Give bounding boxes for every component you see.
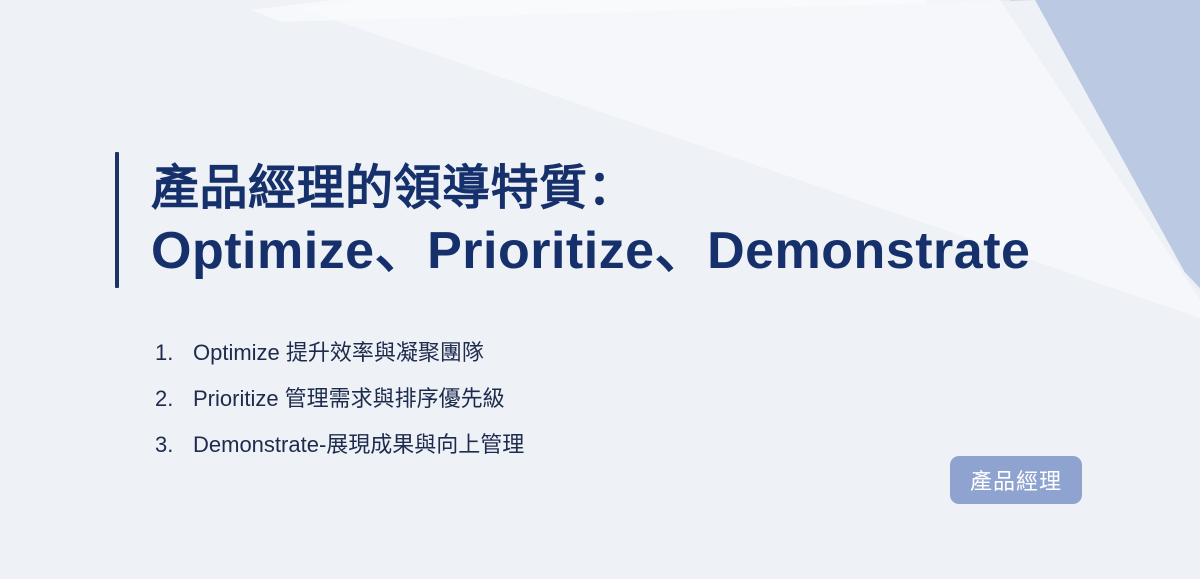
list-item-label: Prioritize 管理需求與排序優先級 <box>193 386 505 412</box>
slide-canvas: 產品經理的領導特質： Optimize、Prioritize、Demonstra… <box>0 0 1200 579</box>
list-item-label: Optimize 提升效率與凝聚團隊 <box>193 340 484 366</box>
title-block: 產品經理的領導特質： Optimize、Prioritize、Demonstra… <box>115 152 1030 288</box>
page-title: 產品經理的領導特質： Optimize、Prioritize、Demonstra… <box>151 152 1030 288</box>
list-item-number: 2. <box>155 386 193 412</box>
list-item: 1. Optimize 提升效率與凝聚團隊 <box>155 340 524 366</box>
title-accent-bar <box>115 152 119 288</box>
list-item-number: 3. <box>155 432 193 458</box>
key-points-list: 1. Optimize 提升效率與凝聚團隊 2. Prioritize 管理需求… <box>155 340 524 478</box>
list-item-number: 1. <box>155 340 193 366</box>
list-item: 2. Prioritize 管理需求與排序優先級 <box>155 386 524 412</box>
title-line-primary: 產品經理的領導特質： <box>151 157 1030 220</box>
category-badge: 產品經理 <box>950 456 1082 504</box>
list-item-label: Demonstrate-展現成果與向上管理 <box>193 432 524 458</box>
category-badge-label: 產品經理 <box>970 464 1062 496</box>
list-item: 3. Demonstrate-展現成果與向上管理 <box>155 432 524 458</box>
title-line-secondary: Optimize、Prioritize、Demonstrate <box>151 220 1030 283</box>
